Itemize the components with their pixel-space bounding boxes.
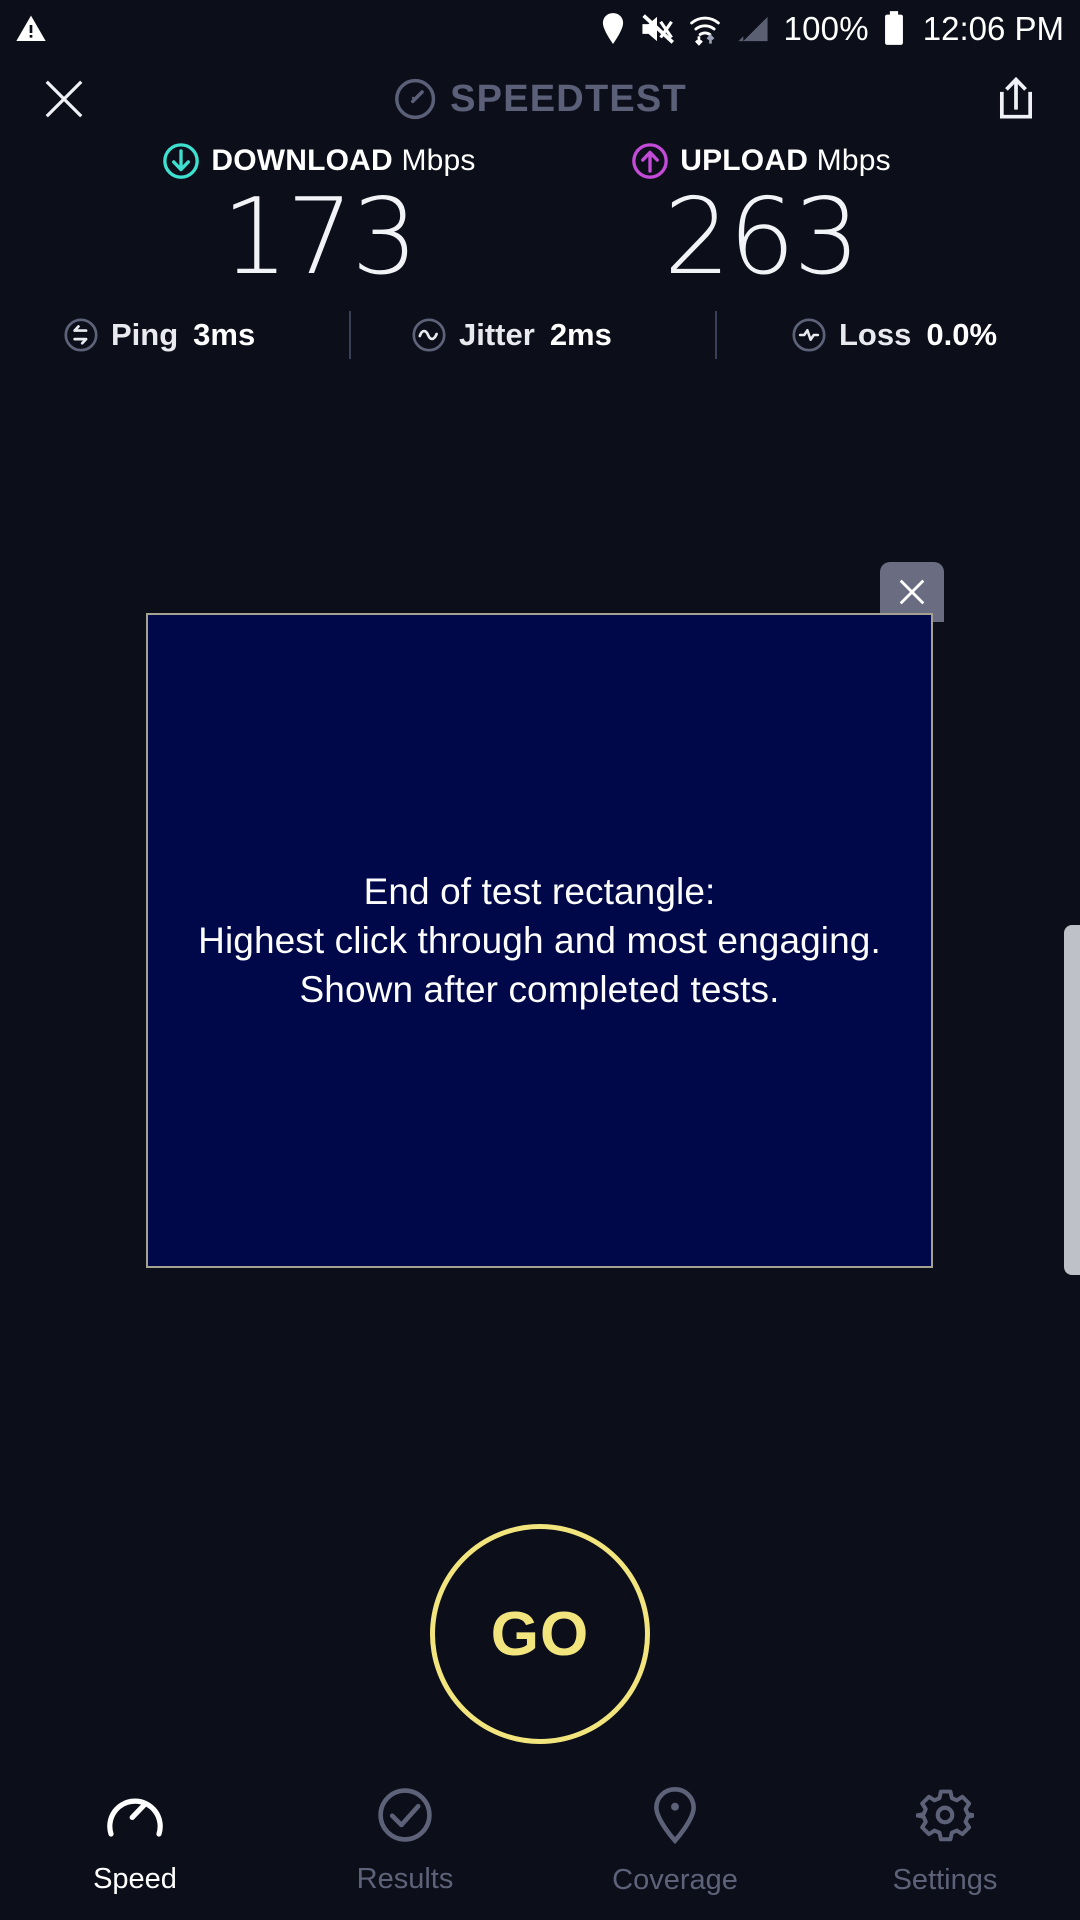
metric-loss: Loss 0.0% — [790, 316, 997, 354]
nav-item-results[interactable]: Results — [270, 1755, 540, 1920]
wifi-icon — [688, 12, 722, 46]
metric-loss-value: 0.0% — [926, 317, 997, 353]
ad-line-1: End of test rectangle: — [198, 867, 881, 916]
nav-item-speed[interactable]: Speed — [0, 1755, 270, 1920]
metric-loss-label: Loss — [839, 317, 911, 353]
gear-icon — [916, 1786, 974, 1844]
loss-icon — [790, 316, 828, 354]
upload-value: 263 — [596, 184, 926, 291]
battery-full-icon — [883, 11, 905, 47]
advertisement-banner[interactable]: End of test rectangle: Highest click thr… — [146, 613, 933, 1268]
nav-label-settings: Settings — [893, 1864, 998, 1897]
upload-unit: Mbps — [817, 144, 891, 177]
go-button[interactable]: GO — [430, 1524, 650, 1744]
share-button[interactable] — [988, 71, 1044, 127]
warning-triangle-icon — [14, 13, 48, 45]
share-icon — [994, 76, 1038, 122]
speedometer-icon — [393, 77, 437, 121]
ad-line-2: Highest click through and most engaging. — [198, 916, 881, 965]
metric-jitter-label: Jitter — [459, 317, 535, 353]
nav-label-results: Results — [357, 1863, 454, 1896]
check-circle-icon — [376, 1787, 434, 1843]
speedtest-app-screen: 100% 12:06 PM SPEEDTEST — [0, 0, 1080, 1920]
download-arrow-icon — [162, 142, 200, 180]
connection-metrics: Ping 3ms Jitter 2ms Loss 0.0% — [0, 304, 1080, 366]
ping-icon — [62, 316, 100, 354]
location-pin-icon — [600, 12, 626, 46]
metric-ping-label: Ping — [111, 317, 178, 353]
download-label: DOWNLOAD — [211, 144, 393, 177]
bottom-navigation-bar: Speed Results Coverage Settings — [0, 1755, 1080, 1920]
vertical-scrollbar[interactable] — [1064, 925, 1080, 1275]
nav-label-coverage: Coverage — [612, 1864, 738, 1897]
status-bar-left — [14, 13, 48, 45]
nav-label-speed: Speed — [93, 1863, 177, 1896]
cellular-signal-icon — [736, 14, 770, 44]
system-status-bar: 100% 12:06 PM — [0, 0, 1080, 58]
upload-arrow-icon — [631, 142, 669, 180]
close-button[interactable] — [36, 71, 92, 127]
ad-line-3: Shown after completed tests. — [198, 965, 881, 1014]
brand-logo: SPEEDTEST — [393, 77, 687, 121]
speed-results: DOWNLOAD Mbps 173 UPLOAD Mbps — [0, 140, 1080, 291]
upload-label: UPLOAD — [680, 144, 808, 177]
go-button-label: GO — [491, 1599, 589, 1670]
metric-jitter-value: 2ms — [550, 317, 612, 353]
brand-name: SPEEDTEST — [450, 78, 687, 121]
ad-text: End of test rectangle: Highest click thr… — [198, 867, 881, 1015]
mute-icon — [640, 13, 674, 45]
metric-ping-value: 3ms — [193, 317, 255, 353]
speedometer-icon — [104, 1787, 166, 1843]
nav-item-coverage[interactable]: Coverage — [540, 1755, 810, 1920]
status-bar-right: 100% 12:06 PM — [600, 10, 1064, 48]
battery-percent-label: 100% — [784, 10, 869, 48]
download-result: DOWNLOAD Mbps 173 — [154, 140, 484, 291]
nav-item-settings[interactable]: Settings — [810, 1755, 1080, 1920]
close-icon — [41, 76, 87, 122]
metric-ping: Ping 3ms — [62, 316, 255, 354]
metric-jitter: Jitter 2ms — [410, 316, 612, 354]
clock-label: 12:06 PM — [923, 10, 1064, 48]
app-header: SPEEDTEST — [0, 58, 1080, 140]
upload-result: UPLOAD Mbps 263 — [596, 140, 926, 291]
metric-divider — [715, 311, 717, 359]
metric-divider — [349, 311, 351, 359]
download-unit: Mbps — [401, 144, 475, 177]
close-icon — [895, 575, 929, 609]
download-value: 173 — [154, 184, 484, 291]
map-pin-icon — [649, 1786, 701, 1844]
jitter-icon — [410, 316, 448, 354]
